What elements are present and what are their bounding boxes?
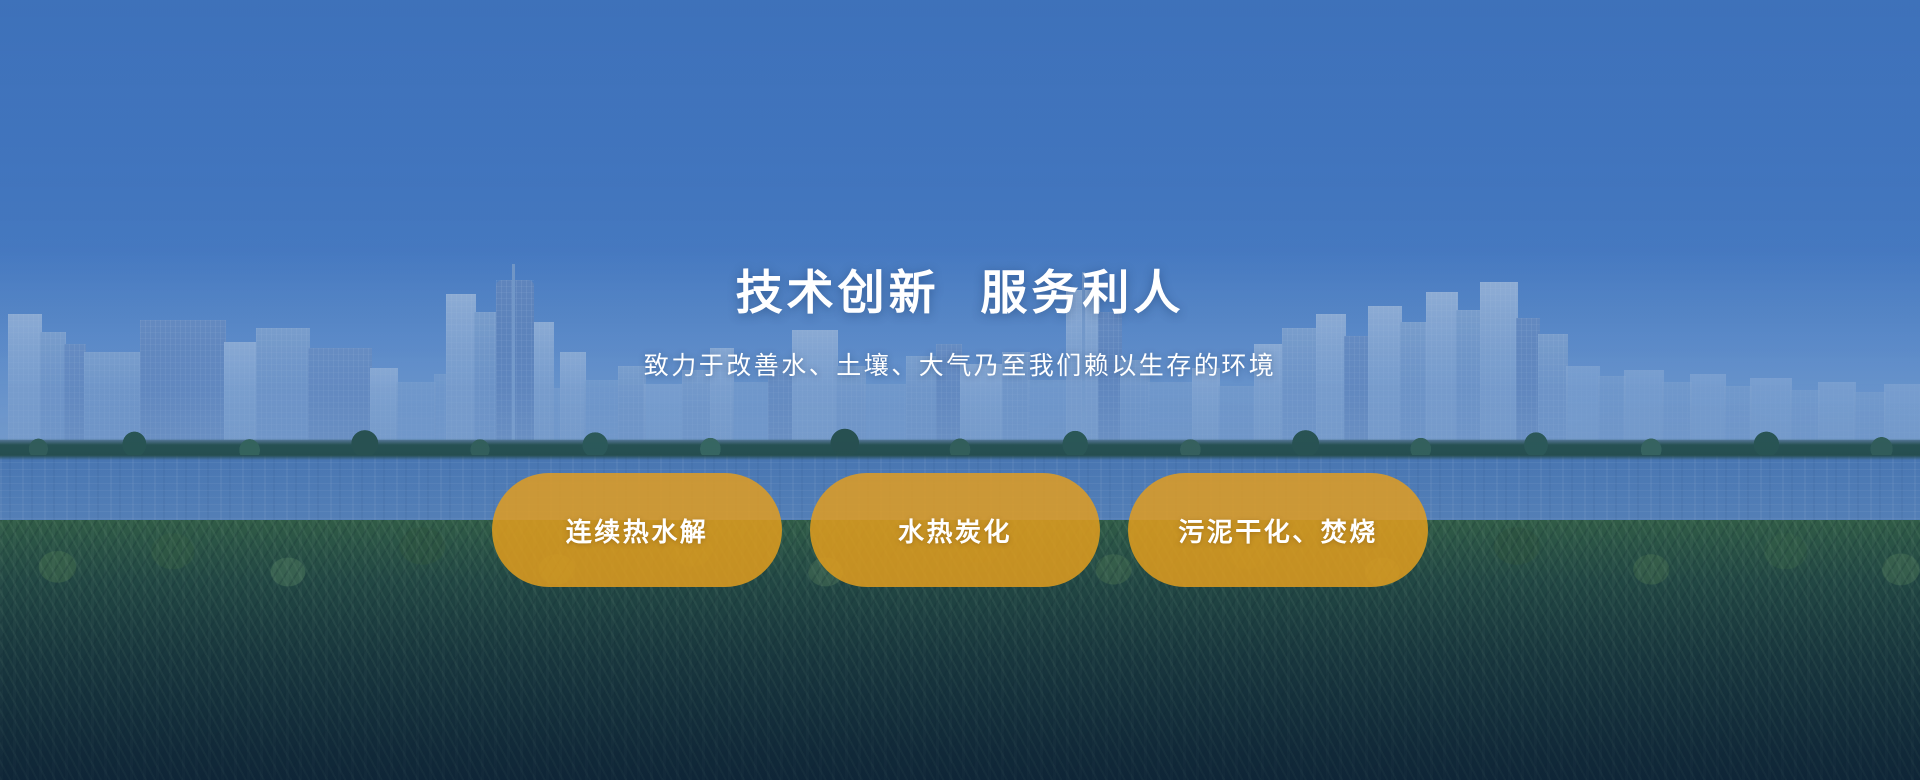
hero-banner: 技术创新 服务利人 致力于改善水、土壤、大气乃至我们赖以生存的环境 连续热水解 … xyxy=(0,0,1920,780)
category-button-group: 连续热水解 水热炭化 污泥干化、焚烧 xyxy=(0,473,1920,587)
category-button-hydrothermal-carbonization[interactable]: 水热炭化 xyxy=(810,473,1100,587)
category-button-sludge-drying-incineration[interactable]: 污泥干化、焚烧 xyxy=(1128,473,1428,587)
category-button-continuous-thermal-hydrolysis[interactable]: 连续热水解 xyxy=(492,473,782,587)
photo-blue-wash xyxy=(0,0,1920,780)
